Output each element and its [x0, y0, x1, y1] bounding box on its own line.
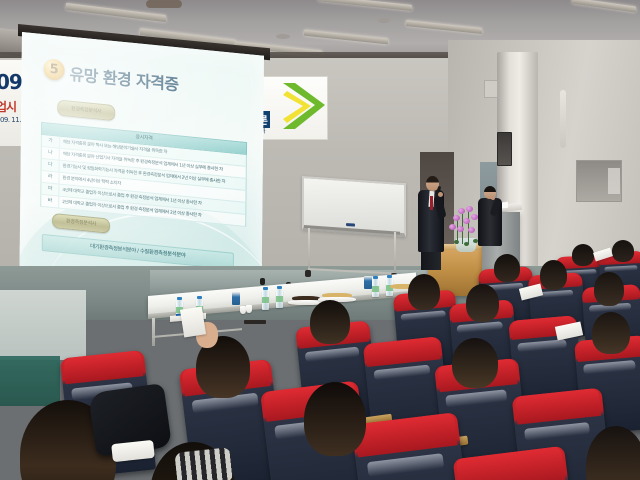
ceiling-light-fixture [572, 0, 636, 12]
ceiling-vent [276, 34, 290, 39]
audience-head [494, 254, 520, 282]
audience-head [572, 244, 594, 266]
audience-head [594, 272, 624, 306]
audience-seating [0, 246, 640, 480]
audience-head [540, 260, 567, 290]
row-key: 라 [41, 171, 59, 184]
slide-number-badge: 5 [44, 58, 65, 81]
audience-sleeve [174, 447, 233, 480]
wall-box [484, 80, 498, 98]
ceiling-vent [378, 18, 390, 23]
row-key: 가 [42, 135, 60, 148]
whiteboard-marker [346, 223, 355, 227]
audience-head [304, 382, 366, 456]
orchid-bloom [457, 226, 464, 232]
green-chevron-logo [281, 79, 325, 137]
wall-panel [608, 168, 620, 194]
ceiling-light-fixture [304, 30, 388, 45]
ceiling-light-fixture [406, 20, 482, 34]
row-key: 나 [42, 147, 60, 160]
ceiling-vent [146, 0, 182, 8]
orchid-bloom [466, 206, 473, 212]
audience-head [452, 338, 498, 388]
audience-head [612, 240, 634, 262]
presenter-tie [430, 196, 433, 210]
orchid-bloom [463, 218, 470, 224]
handout-paper [180, 306, 206, 337]
ceiling-light-fixture [318, 0, 412, 11]
slide-title: 유망 환경 자격증 [69, 61, 178, 96]
lectern-person-hand [491, 196, 495, 200]
row-key: 마 [41, 183, 59, 196]
wall-speaker [497, 132, 512, 166]
audience-head [592, 312, 630, 354]
orchid-arrangement [448, 206, 482, 250]
wall-tube-light [560, 90, 566, 148]
orchid-bloom [453, 215, 460, 221]
audience-head [408, 274, 440, 310]
audience-head [466, 284, 499, 322]
lecture-hall-photo: 수회 전략토론 환경정책학과 09 업시 009. 11. 5 유망 환경 자격… [0, 0, 640, 480]
orchid-bloom [471, 214, 478, 220]
left-banner-line2: 업시 [0, 98, 16, 115]
presenter-hand [438, 192, 443, 197]
row-key: 다 [42, 159, 60, 172]
orchid-bloom [449, 224, 456, 230]
orchid-bloom [458, 208, 465, 214]
orchid-bloom [468, 227, 475, 233]
row-key: 바 [41, 195, 59, 208]
slide-pill-top: 환경측정분석사 [57, 99, 115, 121]
audience-head [310, 300, 350, 344]
greenery [454, 240, 459, 244]
